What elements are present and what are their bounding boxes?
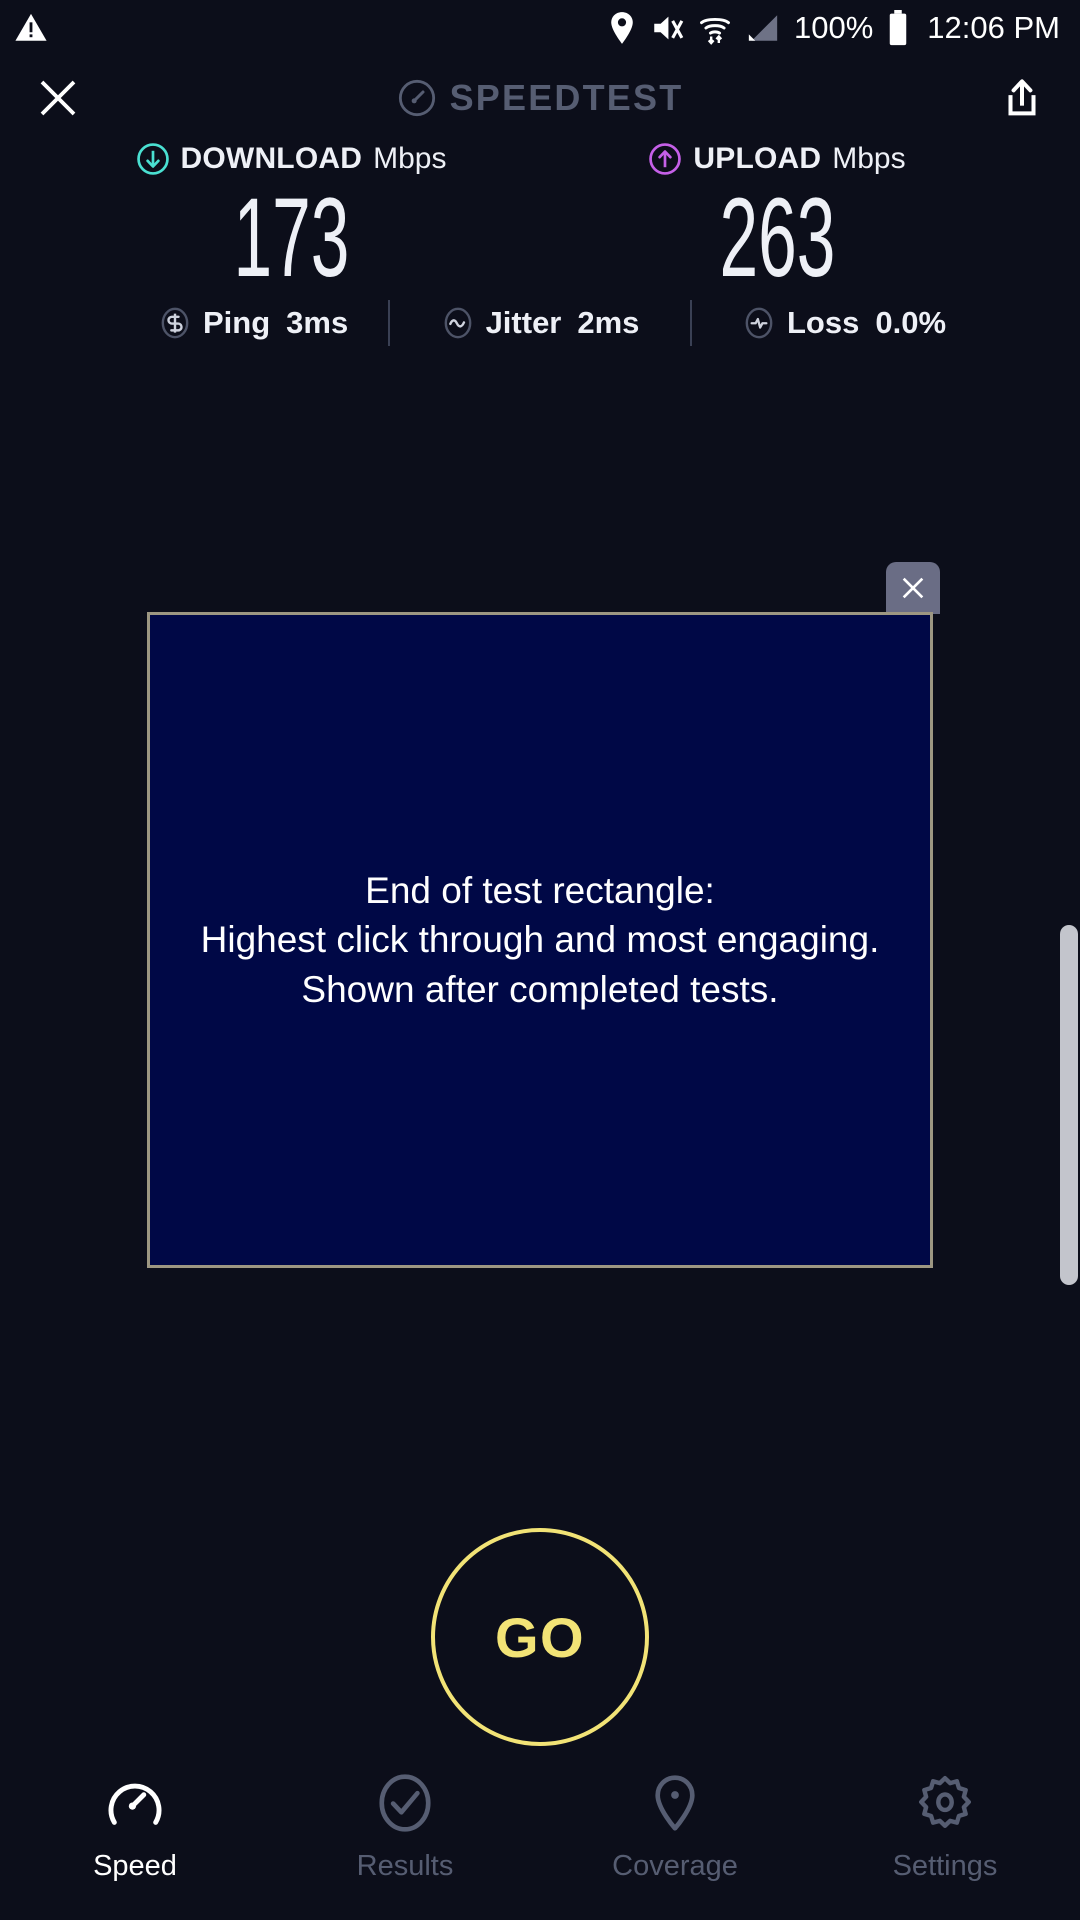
- nav-label-speed: Speed: [93, 1850, 177, 1883]
- ping-jitter-loss-row: Ping 3ms Jitter 2ms Loss 0.0%: [0, 300, 1080, 346]
- upload-label: UPLOAD: [693, 142, 821, 176]
- upload-label-row: UPLOAD Mbps: [648, 142, 905, 176]
- vertical-scrollbar[interactable]: [1060, 925, 1078, 1285]
- location-pin-icon: [608, 11, 636, 45]
- ping-label: Ping: [203, 305, 270, 341]
- close-button[interactable]: [30, 70, 86, 126]
- nav-label-settings: Settings: [893, 1850, 998, 1883]
- loss-icon: [742, 306, 776, 340]
- location-pin-icon: [644, 1772, 706, 1834]
- ad-close-icon: [897, 572, 929, 604]
- battery-full-icon: [887, 10, 909, 46]
- ad-close-button[interactable]: [886, 562, 940, 614]
- ping-icon: [158, 306, 192, 340]
- speedtest-app-screen: 100% 12:06 PM: [0, 0, 1080, 1920]
- download-label-row: DOWNLOAD Mbps: [136, 142, 447, 176]
- clock-label: 12:06 PM: [927, 10, 1060, 46]
- jitter-value: 2ms: [577, 305, 639, 341]
- download-result: DOWNLOAD Mbps 173: [0, 142, 534, 294]
- wifi-icon: [698, 11, 732, 45]
- go-button-label: GO: [495, 1605, 585, 1670]
- speedometer-icon: [104, 1772, 166, 1834]
- check-circle-icon: [374, 1772, 436, 1834]
- status-bar-left: [14, 11, 48, 45]
- jitter-icon: [441, 306, 475, 340]
- loss-value: 0.0%: [875, 305, 946, 341]
- gear-icon: [914, 1772, 976, 1834]
- ad-line-1: End of test rectangle:: [201, 866, 880, 915]
- download-arrow-icon: [136, 142, 170, 176]
- nav-item-settings[interactable]: Settings: [810, 1772, 1080, 1883]
- warning-triangle-icon: [14, 11, 48, 45]
- app-header: SPEEDTEST: [0, 56, 1080, 140]
- jitter-label: Jitter: [486, 305, 562, 341]
- brand-title: SPEEDTEST: [450, 77, 684, 119]
- share-icon: [999, 75, 1045, 121]
- go-button[interactable]: GO: [431, 1528, 649, 1746]
- loss-metric: Loss 0.0%: [692, 305, 982, 341]
- brand-logo: SPEEDTEST: [0, 77, 1080, 119]
- upload-arrow-icon: [648, 142, 682, 176]
- upload-value: 263: [719, 182, 835, 294]
- ad-banner[interactable]: End of test rectangle: Highest click thr…: [147, 612, 933, 1268]
- jitter-metric: Jitter 2ms: [390, 305, 690, 341]
- upload-unit: Mbps: [832, 142, 905, 176]
- ping-value: 3ms: [286, 305, 348, 341]
- download-upload-row: DOWNLOAD Mbps 173 UPLOAD Mbps: [0, 142, 1080, 294]
- results-summary: DOWNLOAD Mbps 173 UPLOAD Mbps: [0, 142, 1080, 294]
- download-value: 173: [233, 182, 349, 294]
- speedtest-gauge-icon: [397, 78, 437, 118]
- ad-line-2: Highest click through and most engaging.: [201, 915, 880, 964]
- mute-icon: [650, 11, 684, 45]
- cell-signal-icon: [746, 11, 780, 45]
- download-label: DOWNLOAD: [181, 142, 363, 176]
- bottom-navigation: Speed Results Coverage: [0, 1760, 1080, 1920]
- status-bar-right: 100% 12:06 PM: [608, 10, 1060, 46]
- nav-label-coverage: Coverage: [612, 1850, 738, 1883]
- nav-label-results: Results: [357, 1850, 454, 1883]
- ad-text: End of test rectangle: Highest click thr…: [201, 866, 880, 1014]
- download-unit: Mbps: [373, 142, 446, 176]
- nav-item-coverage[interactable]: Coverage: [540, 1772, 810, 1883]
- ping-metric: Ping 3ms: [98, 305, 388, 341]
- loss-label: Loss: [787, 305, 859, 341]
- close-icon: [34, 74, 82, 122]
- ad-line-3: Shown after completed tests.: [201, 965, 880, 1014]
- nav-item-results[interactable]: Results: [270, 1772, 540, 1883]
- nav-item-speed[interactable]: Speed: [0, 1772, 270, 1883]
- battery-percent-label: 100%: [794, 10, 873, 46]
- status-bar: 100% 12:06 PM: [0, 0, 1080, 56]
- upload-result: UPLOAD Mbps 263: [534, 142, 1080, 294]
- share-button[interactable]: [994, 70, 1050, 126]
